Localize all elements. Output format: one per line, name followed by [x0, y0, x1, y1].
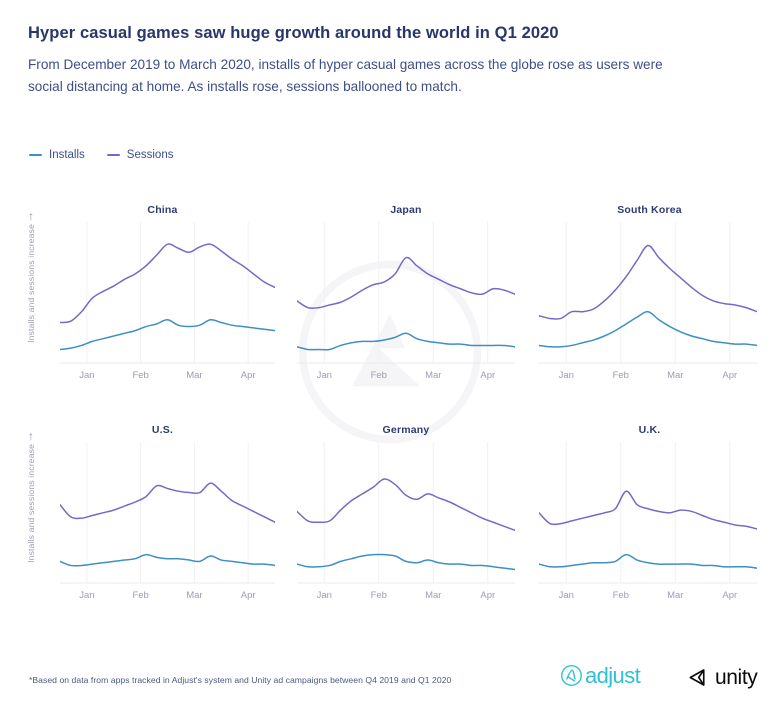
chart-panel-south-korea[interactable]: South Korea JanFebMarApr: [527, 196, 772, 416]
legend-label-sessions: Sessions: [127, 149, 174, 161]
x-tick-label: Feb: [371, 590, 387, 601]
unity-logo[interactable]: unity: [685, 665, 757, 690]
plot-area-uk: [539, 442, 757, 587]
series-line-installs: [297, 333, 515, 350]
chart-row-top: ↑ Installs and sessions increase China J…: [0, 196, 780, 416]
adjust-logo[interactable]: adjust: [560, 664, 640, 687]
series-line-sessions: [60, 483, 275, 522]
x-tick-label: Mar: [425, 370, 441, 381]
x-axis-ticks-uk: JanFebMarApr: [539, 590, 757, 604]
x-axis-ticks-south-korea: JanFebMarApr: [539, 370, 757, 384]
series-line-installs: [60, 555, 275, 566]
chart-panel-japan[interactable]: Japan JanFebMarApr: [285, 196, 527, 416]
series-line-sessions: [297, 479, 515, 530]
x-tick-label: Feb: [132, 370, 148, 381]
small-multiples-grid: ↑ Installs and sessions increase China J…: [0, 196, 780, 636]
x-tick-label: Mar: [425, 590, 441, 601]
x-tick-label: Feb: [613, 590, 629, 601]
chart-panel-uk[interactable]: U.K. JanFebMarApr: [527, 416, 772, 636]
panel-title-us: U.S.: [0, 424, 285, 436]
x-tick-label: Jan: [317, 590, 332, 601]
plot-area-china: [60, 222, 275, 367]
x-tick-label: Mar: [667, 370, 683, 381]
x-tick-label: Apr: [241, 590, 256, 601]
chart-row-bottom: ↑ Installs and sessions increase U.S. Ja…: [0, 416, 780, 636]
x-tick-label: Mar: [667, 590, 683, 601]
y-axis-label-group-2: ↑ Installs and sessions increase: [22, 430, 40, 600]
y-axis-label: Installs and sessions increase: [26, 224, 36, 343]
unity-mark-icon: [685, 665, 710, 690]
legend-swatch-sessions: [107, 154, 120, 156]
adjust-wordmark: adjust: [585, 665, 640, 687]
legend-label-installs: Installs: [49, 149, 85, 161]
x-tick-label: Jan: [559, 370, 574, 381]
footer: *Based on data from apps tracked in Adju…: [0, 655, 780, 715]
series-line-installs: [539, 555, 757, 569]
chart-panel-germany[interactable]: Germany JanFebMarApr: [285, 416, 527, 636]
footnote-text: *Based on data from apps tracked in Adju…: [29, 675, 451, 685]
series-line-installs: [539, 312, 757, 347]
x-tick-label: Apr: [722, 590, 737, 601]
x-tick-label: Feb: [132, 590, 148, 601]
legend-item-installs[interactable]: Installs: [29, 149, 85, 161]
unity-wordmark: unity: [715, 667, 757, 688]
series-line-sessions: [297, 258, 515, 309]
chart-panel-china[interactable]: ↑ Installs and sessions increase China J…: [0, 196, 285, 416]
legend-swatch-installs: [29, 154, 42, 156]
chart-panel-us[interactable]: ↑ Installs and sessions increase U.S. Ja…: [0, 416, 285, 636]
series-line-sessions: [539, 491, 757, 529]
series-line-installs: [297, 554, 515, 569]
x-tick-label: Jan: [79, 370, 94, 381]
panel-title-japan: Japan: [285, 204, 527, 216]
x-tick-label: Jan: [317, 370, 332, 381]
plot-area-germany: [297, 442, 515, 587]
page-subtitle: From December 2019 to March 2020, instal…: [28, 54, 678, 98]
x-tick-label: Feb: [371, 370, 387, 381]
x-axis-ticks-us: JanFebMarApr: [60, 590, 275, 604]
x-axis-ticks-germany: JanFebMarApr: [297, 590, 515, 604]
plot-area-japan: [297, 222, 515, 367]
series-line-sessions: [60, 244, 275, 323]
legend-item-sessions[interactable]: Sessions: [107, 149, 174, 161]
y-axis-label-group: ↑ Installs and sessions increase: [22, 210, 40, 380]
chart-legend: Installs Sessions: [29, 149, 173, 161]
series-line-sessions: [539, 246, 757, 320]
x-tick-label: Jan: [79, 590, 94, 601]
y-axis-label: Installs and sessions increase: [26, 444, 36, 563]
adjust-mark-icon: [560, 664, 583, 687]
x-tick-label: Apr: [480, 370, 495, 381]
x-tick-label: Jan: [559, 590, 574, 601]
panel-title-south-korea: South Korea: [527, 204, 772, 216]
page-title: Hyper casual games saw huge growth aroun…: [28, 24, 728, 44]
x-tick-label: Apr: [241, 370, 256, 381]
x-tick-label: Apr: [480, 590, 495, 601]
panel-title-china: China: [0, 204, 285, 216]
x-tick-label: Mar: [186, 590, 202, 601]
x-tick-label: Mar: [186, 370, 202, 381]
panel-title-germany: Germany: [285, 424, 527, 436]
x-axis-ticks-japan: JanFebMarApr: [297, 370, 515, 384]
x-tick-label: Feb: [613, 370, 629, 381]
x-tick-label: Apr: [722, 370, 737, 381]
plot-area-us: [60, 442, 275, 587]
x-axis-ticks-china: JanFebMarApr: [60, 370, 275, 384]
header: Hyper casual games saw huge growth aroun…: [28, 24, 728, 98]
series-line-installs: [60, 320, 275, 350]
panel-title-uk: U.K.: [527, 424, 772, 436]
plot-area-south-korea: [539, 222, 757, 367]
